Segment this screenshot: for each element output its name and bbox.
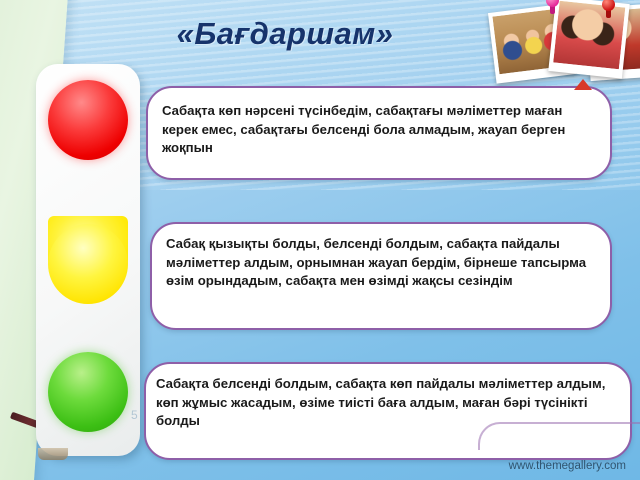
- pink-pushpin-icon: [546, 0, 559, 14]
- footer-watermark: www.themegallery.com: [509, 460, 626, 472]
- callout-tail-icon: [574, 79, 592, 90]
- slide-title: «Бағдаршам»: [0, 16, 640, 52]
- slide-number: 5: [131, 408, 138, 422]
- footer-decorative-rule: [478, 422, 640, 450]
- traffic-light-green-lamp: [48, 352, 128, 432]
- callout-box-yellow: Сабақ қызықты болды, белсенді болдым, са…: [150, 222, 612, 330]
- presentation-slide: «Бағдаршам» Сабақта көп нәрсені түсінбед…: [0, 0, 640, 480]
- traffic-light-yellow-lamp-glow: [48, 224, 128, 304]
- callout-box-red: Сабақта көп нәрсені түсінбедім, сабақтағ…: [146, 86, 612, 180]
- traffic-light-red-lamp: [48, 80, 128, 160]
- callout-text-yellow: Сабақ қызықты болды, белсенді болдым, са…: [166, 235, 598, 291]
- traffic-light-base: [38, 448, 68, 460]
- callout-text-red: Сабақта көп нәрсені түсінбедім, сабақтағ…: [162, 102, 600, 158]
- traffic-light: [36, 64, 140, 456]
